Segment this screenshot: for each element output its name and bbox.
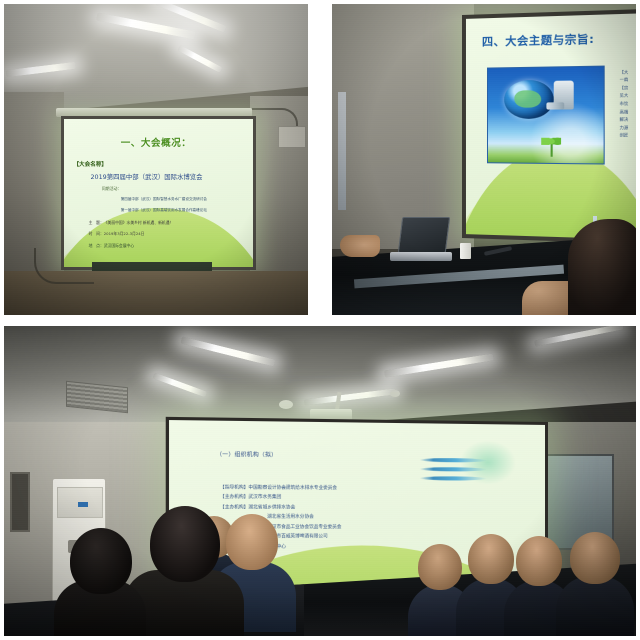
side-line: 市饮 xyxy=(620,100,636,108)
side-line: 【大 xyxy=(620,68,636,76)
floor-cable xyxy=(34,248,94,284)
side-line: 高端 xyxy=(620,108,636,116)
photo-collage: 一、大会概况： 【大会名称】 2019第四届中部（武汉）国际水博览会 同期活动：… xyxy=(0,0,640,640)
slide-heading: 【大会名称】 xyxy=(73,160,107,168)
smoke-detector-icon xyxy=(279,400,293,409)
attendee-hand xyxy=(340,235,380,257)
framed-picture xyxy=(10,472,30,532)
laptop xyxy=(394,217,450,259)
laptop-screen xyxy=(398,217,450,253)
photo-top-right[interactable]: 四、大会主题与宗旨: 【大 一肩 【宗 见大 市饮 高端 解决 力源 创匠 xyxy=(332,4,636,315)
slide-theme: 四、大会主题与宗旨: 【大 一肩 【宗 见大 市饮 高端 解决 力源 创匠 xyxy=(466,13,636,240)
globe-icon xyxy=(504,79,554,119)
slide-side-column: 【大 一肩 【宗 见大 市饮 高端 解决 力源 创匠 xyxy=(620,68,636,140)
smoke-detector-icon xyxy=(390,390,400,397)
faucet-icon xyxy=(554,81,574,110)
slide-line: 【主办机构】湖北省城乡供排水协会 xyxy=(220,503,505,513)
attendee xyxy=(556,532,634,636)
ac-display-icon xyxy=(78,502,88,507)
side-line: 【宗 xyxy=(620,84,636,92)
slide-event-name: 2019第四届中部（武汉）国际水博览会 xyxy=(90,172,202,181)
slide-theme-line: 主 题：《美丽中国》水美乡村 新机遇、新机遇！ xyxy=(89,220,174,226)
wall-strip xyxy=(338,92,346,210)
side-line: 创匠 xyxy=(620,132,636,140)
slide-activity-1: 第四届中部（武汉）国际智慧水务水厂建设交流研讨会 xyxy=(121,197,207,202)
projection-screen: 一、大会概况： 【大会名称】 2019第四届中部（武汉）国际水博览会 同期活动：… xyxy=(61,116,256,270)
cable xyxy=(252,108,298,126)
side-line: 见大 xyxy=(620,92,636,100)
slide-illustration xyxy=(487,66,604,164)
slide-date-line: 时 间：2019年3月22-3月24日 xyxy=(89,231,145,237)
attendee xyxy=(54,528,146,636)
slide-title: 一、大会概况： xyxy=(121,135,192,149)
side-line: 解决 xyxy=(620,116,636,124)
slide-activity-2: 第一届中部（武汉）国际高端饮用水发展合作高峰论坛 xyxy=(121,208,207,213)
laptop-keyboard xyxy=(390,252,452,261)
attendee xyxy=(568,219,636,315)
sprout-icon xyxy=(540,132,563,157)
slide-sub-label: 同期活动： xyxy=(102,186,121,192)
paper-cup xyxy=(460,243,471,259)
left-wall xyxy=(332,4,474,249)
side-line: 一肩 xyxy=(620,76,636,84)
wall-vent xyxy=(278,126,306,148)
photo-bottom-wide[interactable]: （一）组织机构（拟） 【指导机构】中国勘察设计协会建筑给水排水专业委员会 【主办… xyxy=(4,326,636,636)
slide-heading: （一）组织机构（拟） xyxy=(216,450,277,459)
projection-screen: 四、大会主题与宗旨: 【大 一肩 【宗 见大 市饮 高端 解决 力源 创匠 xyxy=(462,9,636,244)
slide-overview: 一、大会概况： 【大会名称】 2019第四届中部（武汉）国际水博览会 同期活动：… xyxy=(64,119,253,267)
slide-venue-line: 地 点：武汉国际会展中心 xyxy=(89,243,135,249)
photo-top-left[interactable]: 一、大会概况： 【大会名称】 2019第四届中部（武汉）国际水博览会 同期活动：… xyxy=(4,4,308,315)
side-line: 力源 xyxy=(620,124,636,132)
slide-title: 四、大会主题与宗旨: xyxy=(482,30,594,49)
